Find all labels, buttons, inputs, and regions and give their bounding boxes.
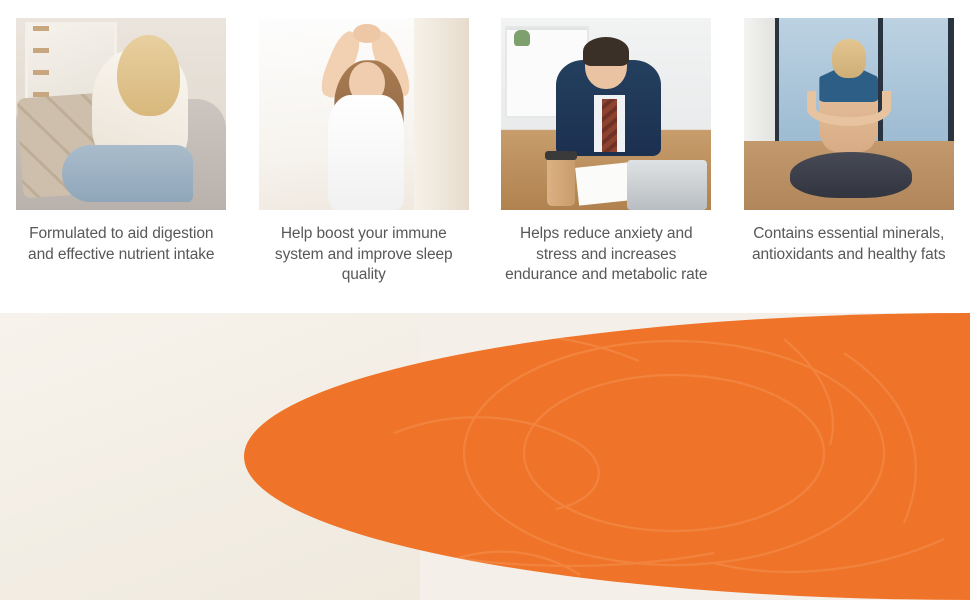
benefit-card-minerals: Contains essential minerals, antioxidant… [728, 0, 970, 313]
photo-person-head [832, 39, 866, 77]
photo-hands [353, 24, 380, 43]
promo-section: Tastes Like Coffee Not Like Mushrooms Th… [0, 313, 970, 600]
benefit-card-immunity: Help boost your immune system and improv… [243, 0, 486, 313]
photo-person-legs [790, 152, 912, 198]
photo-cup-lid [545, 151, 577, 161]
benefit-caption-digestion: Formulated to aid digestion and effectiv… [18, 224, 224, 265]
photo-plant [514, 30, 530, 46]
benefit-caption-immunity: Help boost your immune system and improv… [261, 224, 467, 286]
photo-person-hair [583, 37, 629, 66]
benefit-caption-stress: Helps reduce anxiety and stress and incr… [503, 224, 709, 286]
photo-door-mullion [878, 18, 883, 141]
benefit-card-digestion: Formulated to aid digestion and effectiv… [0, 0, 243, 313]
photo-person-torso [328, 95, 404, 210]
orange-curved-panel [244, 313, 970, 600]
benefit-card-stress: Helps reduce anxiety and stress and incr… [485, 0, 728, 313]
photo-person-hair [117, 35, 180, 116]
promo-banner-page: Formulated to aid digestion and effectiv… [0, 0, 970, 600]
photo-person-jeans [62, 145, 192, 203]
benefit-photo-minerals [744, 18, 954, 210]
photo-tie [602, 99, 617, 153]
photo-laptop [627, 160, 707, 210]
coffee-line-art [244, 313, 970, 600]
photo-person-arms [807, 91, 891, 126]
photo-curtain [414, 18, 469, 210]
benefit-caption-minerals: Contains essential minerals, antioxidant… [746, 224, 952, 265]
benefit-photo-digestion [16, 18, 226, 210]
benefit-photo-stress [501, 18, 711, 210]
benefits-row: Formulated to aid digestion and effectiv… [0, 0, 970, 313]
photo-coffee-cup [547, 156, 574, 206]
benefit-photo-immunity [259, 18, 469, 210]
photo-wall [744, 18, 776, 141]
